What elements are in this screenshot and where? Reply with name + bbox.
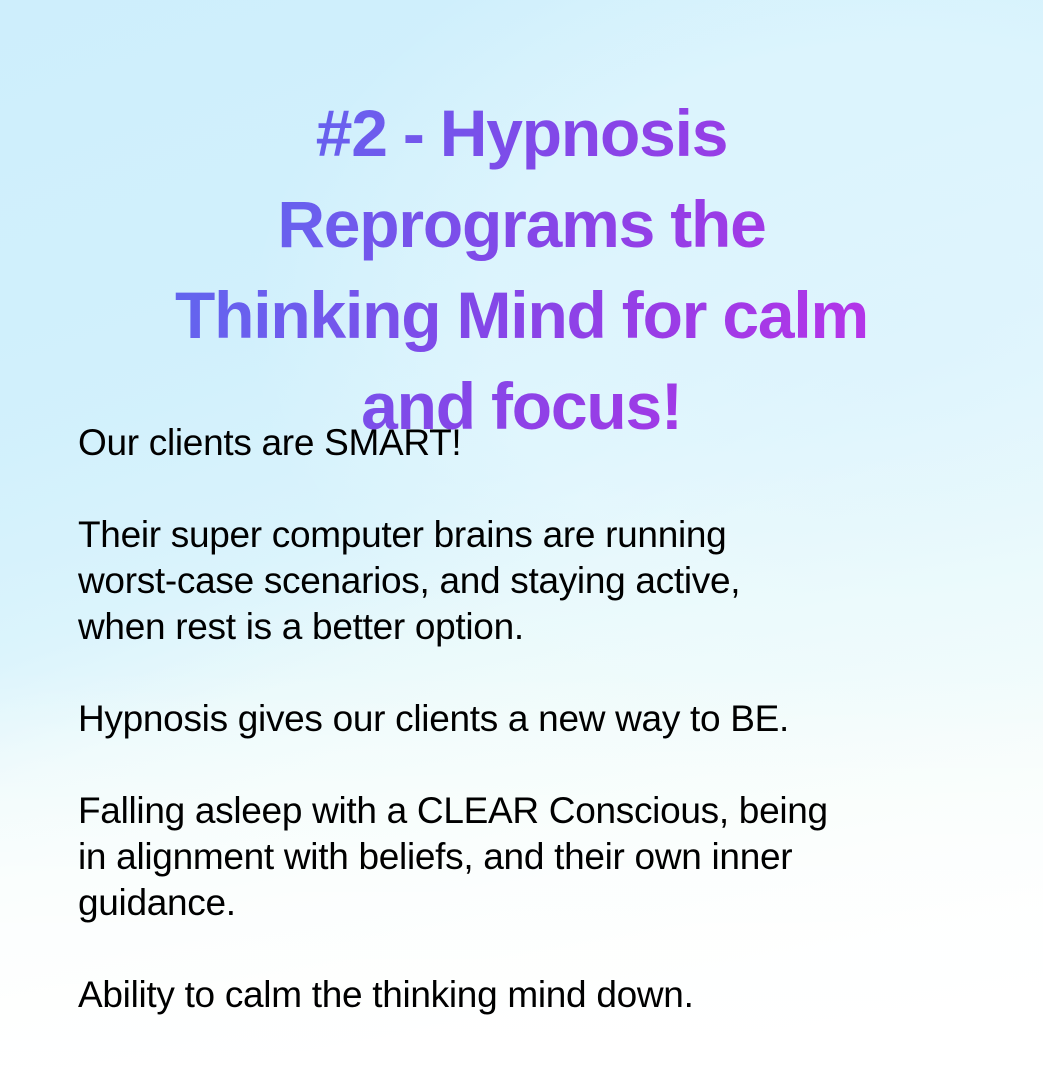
body-paragraph-4: Falling asleep with a CLEAR Conscious, b… (78, 788, 998, 926)
body-paragraph-3: Hypnosis gives our clients a new way to … (78, 696, 998, 742)
headline-line-1: #2 - Hypnosis (0, 88, 1043, 179)
headline-line-2: Reprograms the (0, 179, 1043, 270)
slide-canvas: #2 - Hypnosis Reprograms the Thinking Mi… (0, 0, 1043, 1080)
body-paragraph-1: Our clients are SMART! (78, 420, 998, 466)
slide-body-copy: Our clients are SMART! Their super compu… (78, 420, 998, 1018)
body-paragraph-5: Ability to calm the thinking mind down. (78, 972, 998, 1018)
body-paragraph-2: Their super computer brains are running … (78, 512, 998, 650)
headline-line-3: Thinking Mind for calm (0, 270, 1043, 361)
slide-headline: #2 - Hypnosis Reprograms the Thinking Mi… (0, 88, 1043, 452)
